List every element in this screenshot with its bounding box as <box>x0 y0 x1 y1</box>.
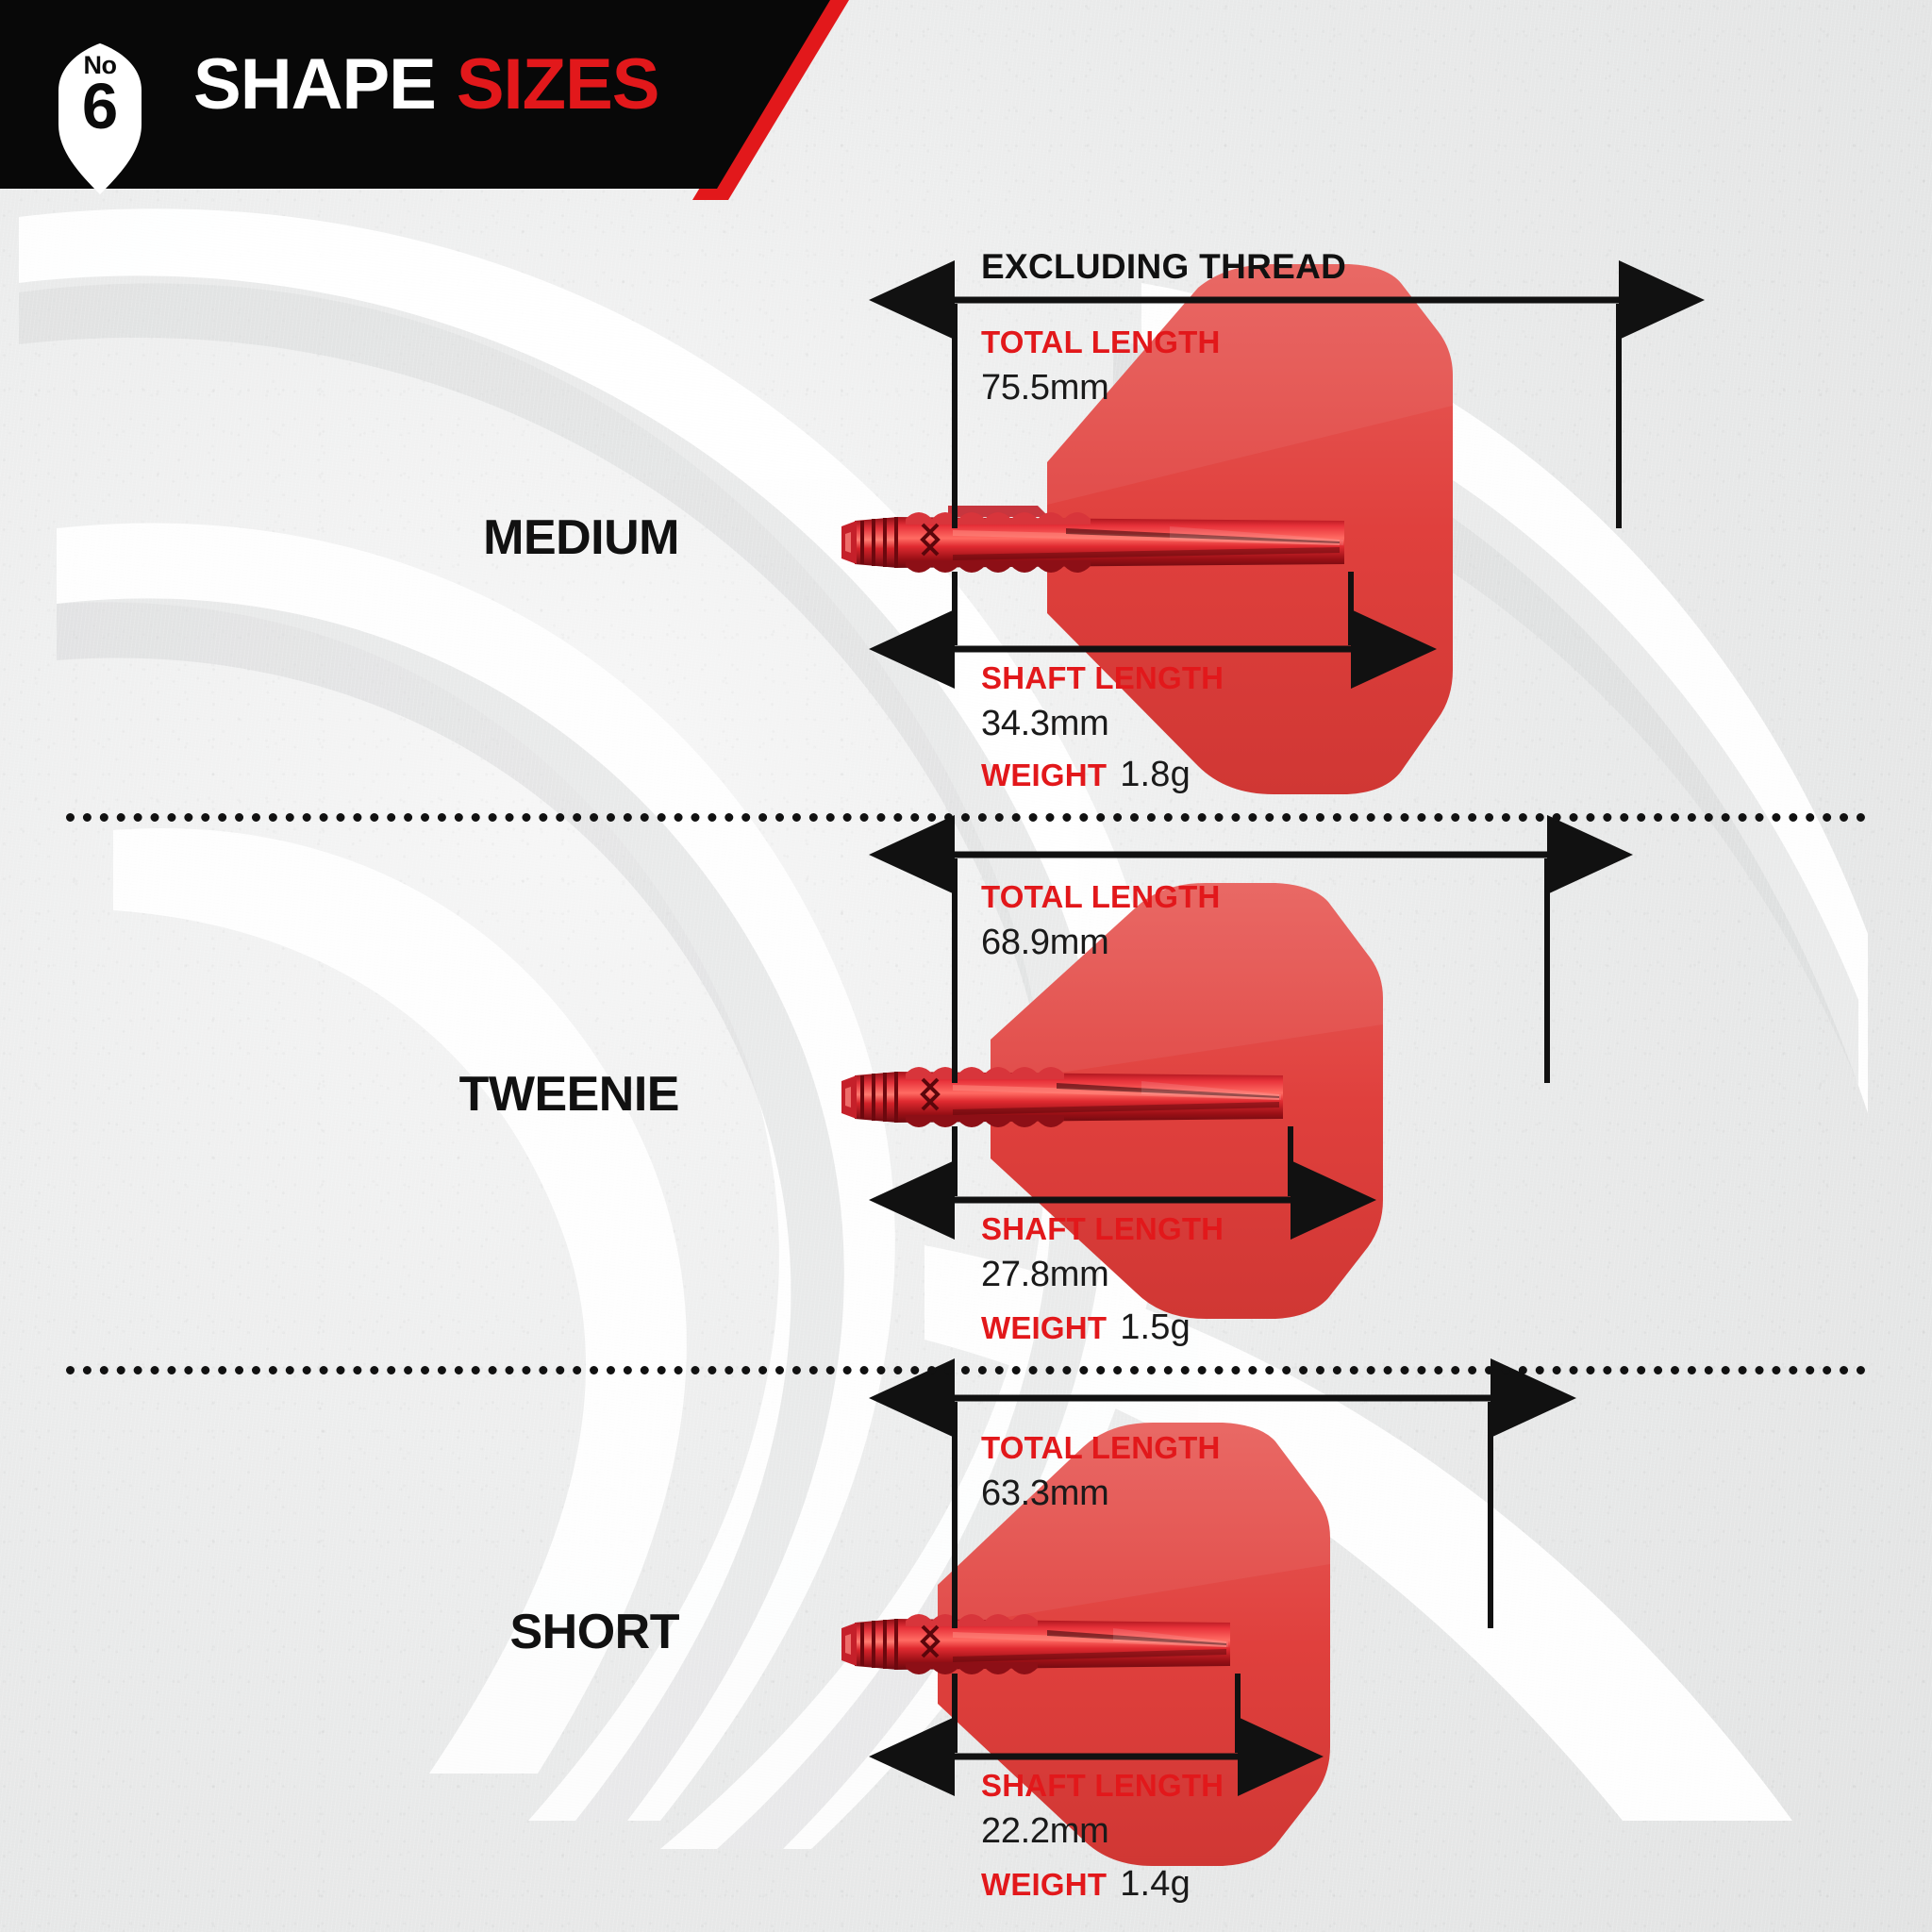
size-label-medium: MEDIUM <box>396 509 679 566</box>
size-label-short: SHORT <box>396 1604 679 1660</box>
badge-flight-shape-icon <box>0 0 1932 1932</box>
dart-medium <box>841 264 1619 794</box>
short-total-length-value: 63.3mm <box>981 1474 1108 1514</box>
short-total-length-label: TOTAL LENGTH <box>981 1430 1221 1466</box>
dart-tweenie <box>841 855 1547 1319</box>
medium-weight-value: 1.8g <box>1120 755 1191 794</box>
excluding-thread-label: EXCLUDING THREAD <box>981 247 1346 287</box>
page-title: SHAPESIZES <box>193 43 658 125</box>
short-weight: WEIGHT1.4g <box>981 1864 1191 1905</box>
tweenie-total-length-label: TOTAL LENGTH <box>981 879 1221 915</box>
medium-total-length-label: TOTAL LENGTH <box>981 325 1221 360</box>
medium-shaft-length-label: SHAFT LENGTH <box>981 660 1224 696</box>
title-word-shape: SHAPE <box>193 44 436 125</box>
tweenie-total-length-value: 68.9mm <box>981 923 1108 963</box>
badge-number: 6 <box>59 74 141 139</box>
medium-weight-label: WEIGHT <box>981 758 1107 792</box>
paper-texture <box>0 0 1932 1932</box>
badge-no6: No 6 <box>59 28 141 163</box>
tweenie-weight-value: 1.5g <box>1120 1307 1191 1347</box>
infographic-canvas: No 6 SHAPESIZES <box>0 0 1932 1932</box>
tweenie-weight-label: WEIGHT <box>981 1310 1107 1345</box>
section-divider-1 <box>66 813 1866 822</box>
section-divider-2 <box>66 1366 1866 1374</box>
size-label-tweenie: TWEENIE <box>396 1066 679 1123</box>
tweenie-weight: WEIGHT1.5g <box>981 1307 1191 1348</box>
dart-diagram-layer <box>0 0 1932 1932</box>
tweenie-shaft-length-label: SHAFT LENGTH <box>981 1211 1224 1247</box>
short-shaft-length-label: SHAFT LENGTH <box>981 1768 1224 1804</box>
surface-grain <box>0 0 1932 1932</box>
short-weight-value: 1.4g <box>1120 1864 1191 1904</box>
medium-shaft-length-value: 34.3mm <box>981 704 1108 744</box>
medium-weight: WEIGHT1.8g <box>981 755 1191 795</box>
tweenie-shaft-length-value: 27.8mm <box>981 1255 1108 1295</box>
title-word-sizes: SIZES <box>457 44 659 125</box>
medium-total-length-value: 75.5mm <box>981 368 1108 408</box>
background-swoosh-decoration <box>0 0 1932 1932</box>
short-weight-label: WEIGHT <box>981 1867 1107 1902</box>
short-shaft-length-value: 22.2mm <box>981 1811 1108 1852</box>
